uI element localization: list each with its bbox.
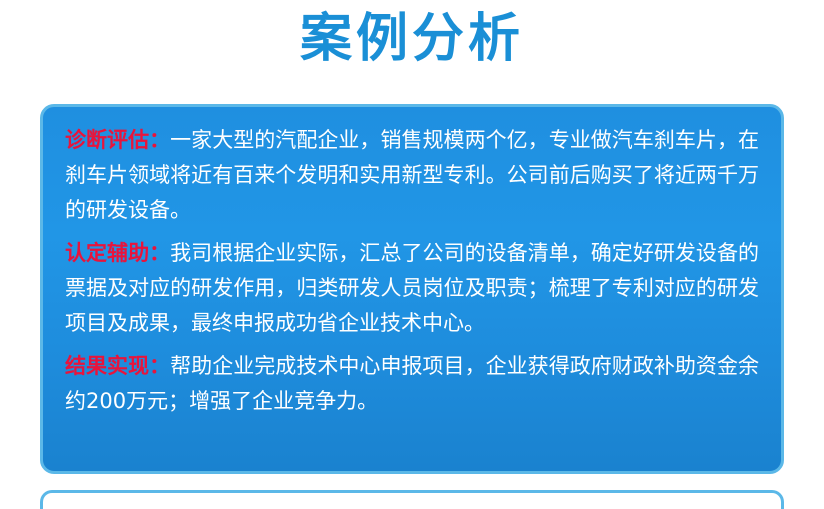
case-analysis-card: 诊断评估：一家大型的汽配企业，销售规模两个亿，专业做汽车刹车片，在刹车片领域将近…: [40, 104, 784, 474]
paragraph-result-text: 帮助企业完成技术中心申报项目，企业获得政府财政补助资金余约200万元；增强了企业…: [65, 354, 759, 413]
paragraph-certification-text: 我司根据企业实际，汇总了公司的设备清单，确定好研发设备的票据及对应的研发作用，归…: [65, 241, 759, 335]
page-title: 案例分析: [0, 8, 824, 70]
paragraph-certification: 认定辅助：我司根据企业实际，汇总了公司的设备清单，确定好研发设备的票据及对应的研…: [65, 236, 759, 341]
next-section-card-top-edge: [40, 490, 784, 509]
paragraph-result-label: 结果实现：: [65, 354, 170, 378]
paragraph-result: 结果实现：帮助企业完成技术中心申报项目，企业获得政府财政补助资金余约200万元；…: [65, 349, 759, 419]
slide-page: 案例分析 诊断评估：一家大型的汽配企业，销售规模两个亿，专业做汽车刹车片，在刹车…: [0, 0, 824, 509]
paragraph-certification-label: 认定辅助：: [65, 241, 170, 265]
paragraph-diagnosis-label: 诊断评估：: [65, 128, 170, 152]
paragraph-diagnosis-text: 一家大型的汽配企业，销售规模两个亿，专业做汽车刹车片，在刹车片领域将近有百来个发…: [65, 128, 759, 222]
paragraph-diagnosis: 诊断评估：一家大型的汽配企业，销售规模两个亿，专业做汽车刹车片，在刹车片领域将近…: [65, 123, 759, 228]
